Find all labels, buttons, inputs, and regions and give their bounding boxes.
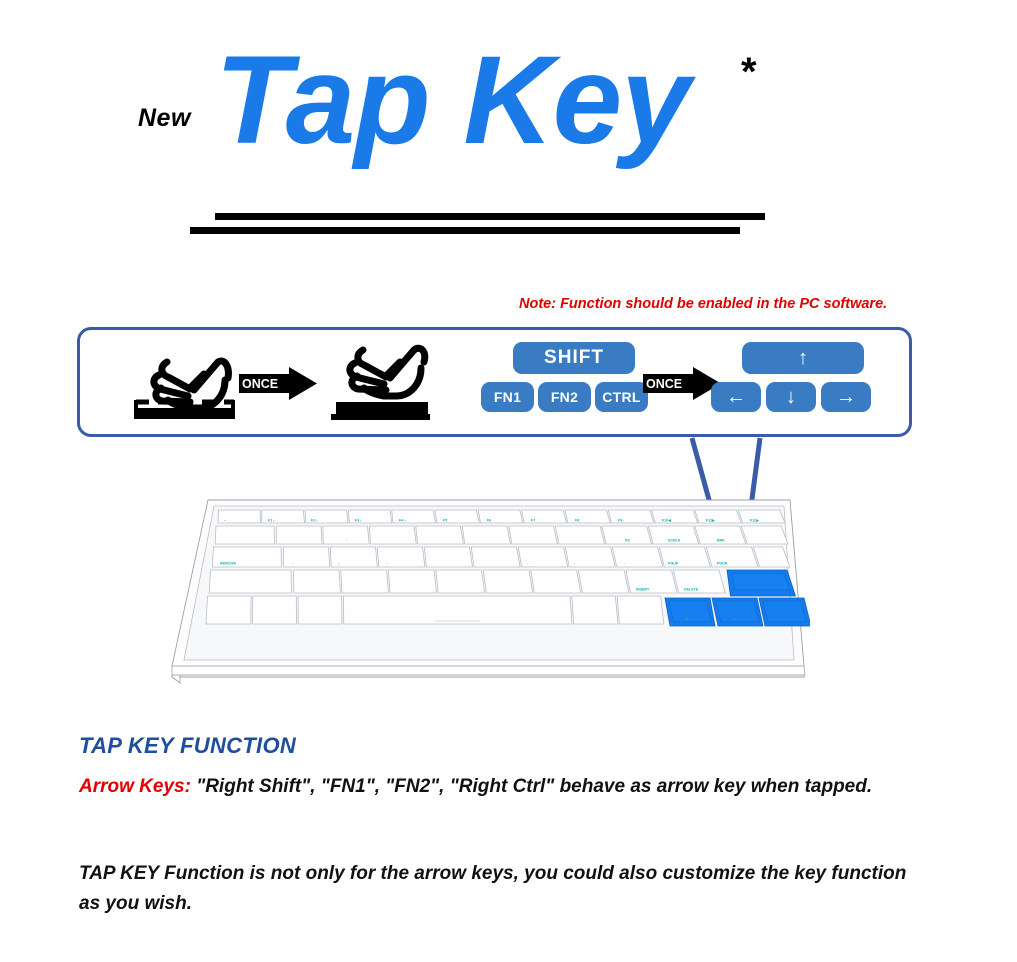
asterisk-marker: *: [741, 52, 757, 92]
svg-text:BRK: BRK: [717, 539, 725, 543]
tap-key-diagram-panel: ONCE SHIFT FN1 FN2 CTRL: [77, 327, 912, 437]
once-arrow-badge-2: ONCE: [643, 367, 721, 400]
svg-text:→: →: [385, 562, 389, 566]
keyboard-row-2: ↑ PS SCRLK BRK: [215, 526, 788, 544]
svg-text:PGDN: PGDN: [717, 562, 728, 566]
keyboard-row-4: INSERT DELETE: [209, 570, 795, 596]
svg-text:↑: ↑: [346, 539, 348, 543]
customize-paragraph: TAP KEY Function is not only for the arr…: [79, 859, 909, 919]
svg-text:▼: ▼: [733, 617, 737, 621]
svg-text:F3☼: F3☼: [355, 519, 363, 523]
key-fn2[interactable]: FN2: [538, 382, 591, 412]
svg-text:F10◀: F10◀: [662, 519, 672, 523]
svg-text:←: ←: [526, 562, 530, 566]
svg-text:F4☼: F4☼: [399, 519, 407, 523]
poster-page: New Tap Key * Note: Function should be e…: [0, 0, 1017, 962]
svg-text:F8: F8: [575, 519, 579, 523]
key-arrow-up[interactable]: ↑: [742, 342, 864, 374]
key-arrow-down[interactable]: ↓: [766, 382, 816, 412]
once-label-1: ONCE: [242, 377, 278, 391]
svg-text:PS: PS: [625, 539, 630, 543]
key-arrow-right[interactable]: →: [821, 382, 871, 412]
key-ctrl[interactable]: CTRL: [595, 382, 648, 412]
note-text: Note: Function should be enabled in the …: [519, 296, 887, 312]
svg-text:~: ~: [224, 519, 226, 523]
svg-text:F12▶: F12▶: [750, 519, 760, 523]
svg-text:F2☼: F2☼: [311, 519, 319, 523]
title-block: New Tap Key *: [0, 20, 1017, 220]
svg-text:DELETE: DELETE: [684, 588, 699, 592]
svg-text:F1☼: F1☼: [268, 519, 276, 523]
keyboard-row-5: ◀ ▼: [206, 596, 810, 626]
svg-text:→: →: [622, 562, 626, 566]
svg-text:SCRLK: SCRLK: [668, 539, 681, 543]
svg-text:PGUP: PGUP: [668, 562, 679, 566]
svg-text:↓: ↓: [574, 562, 576, 566]
svg-text:↓: ↓: [338, 562, 340, 566]
finger-lift-up-icon: [328, 344, 433, 424]
keyboard-row-3: NKRO/6K ← ↓ → ← ↓ → PGUP PGDN: [212, 547, 790, 567]
key-arrow-left[interactable]: ←: [711, 382, 761, 412]
svg-text:F11▶: F11▶: [706, 519, 716, 523]
page-title: Tap Key: [215, 38, 690, 163]
keyboard-illustration: .kc{fill:#fefeff;stroke:#b9bec6;stroke-w…: [150, 478, 810, 688]
svg-text:F7: F7: [531, 519, 535, 523]
once-arrow-badge-1: ONCE: [239, 367, 317, 400]
key-fn1[interactable]: FN1: [481, 382, 534, 412]
title-rule-bottom: [190, 227, 740, 234]
once-label-2: ONCE: [646, 377, 682, 391]
svg-text:NKRO/6K: NKRO/6K: [220, 562, 237, 566]
svg-text:INSERT: INSERT: [636, 588, 650, 592]
section-heading: TAP KEY FUNCTION: [79, 733, 296, 759]
svg-text:F9♪: F9♪: [618, 519, 624, 523]
key-shift[interactable]: SHIFT: [513, 342, 635, 374]
arrow-keys-label: Arrow Keys:: [79, 776, 191, 797]
finger-tap-down-icon: [130, 344, 235, 424]
svg-text:F5: F5: [443, 519, 447, 523]
arrow-keys-paragraph: Arrow Keys: "Right Shift", "FN1", "FN2",…: [79, 772, 909, 802]
title-new-label: New: [138, 104, 191, 133]
keyboard-row-1: ~ F1☼ F2☼ F3☼ F4☼ F5 F6 F7 F8 F9♪ F10◀ F…: [218, 510, 785, 523]
title-rule-top: [215, 213, 765, 220]
svg-text:F6: F6: [487, 519, 491, 523]
arrow-keys-body: "Right Shift", "FN1", "FN2", "Right Ctrl…: [191, 776, 872, 797]
svg-text:←: ←: [291, 562, 295, 566]
